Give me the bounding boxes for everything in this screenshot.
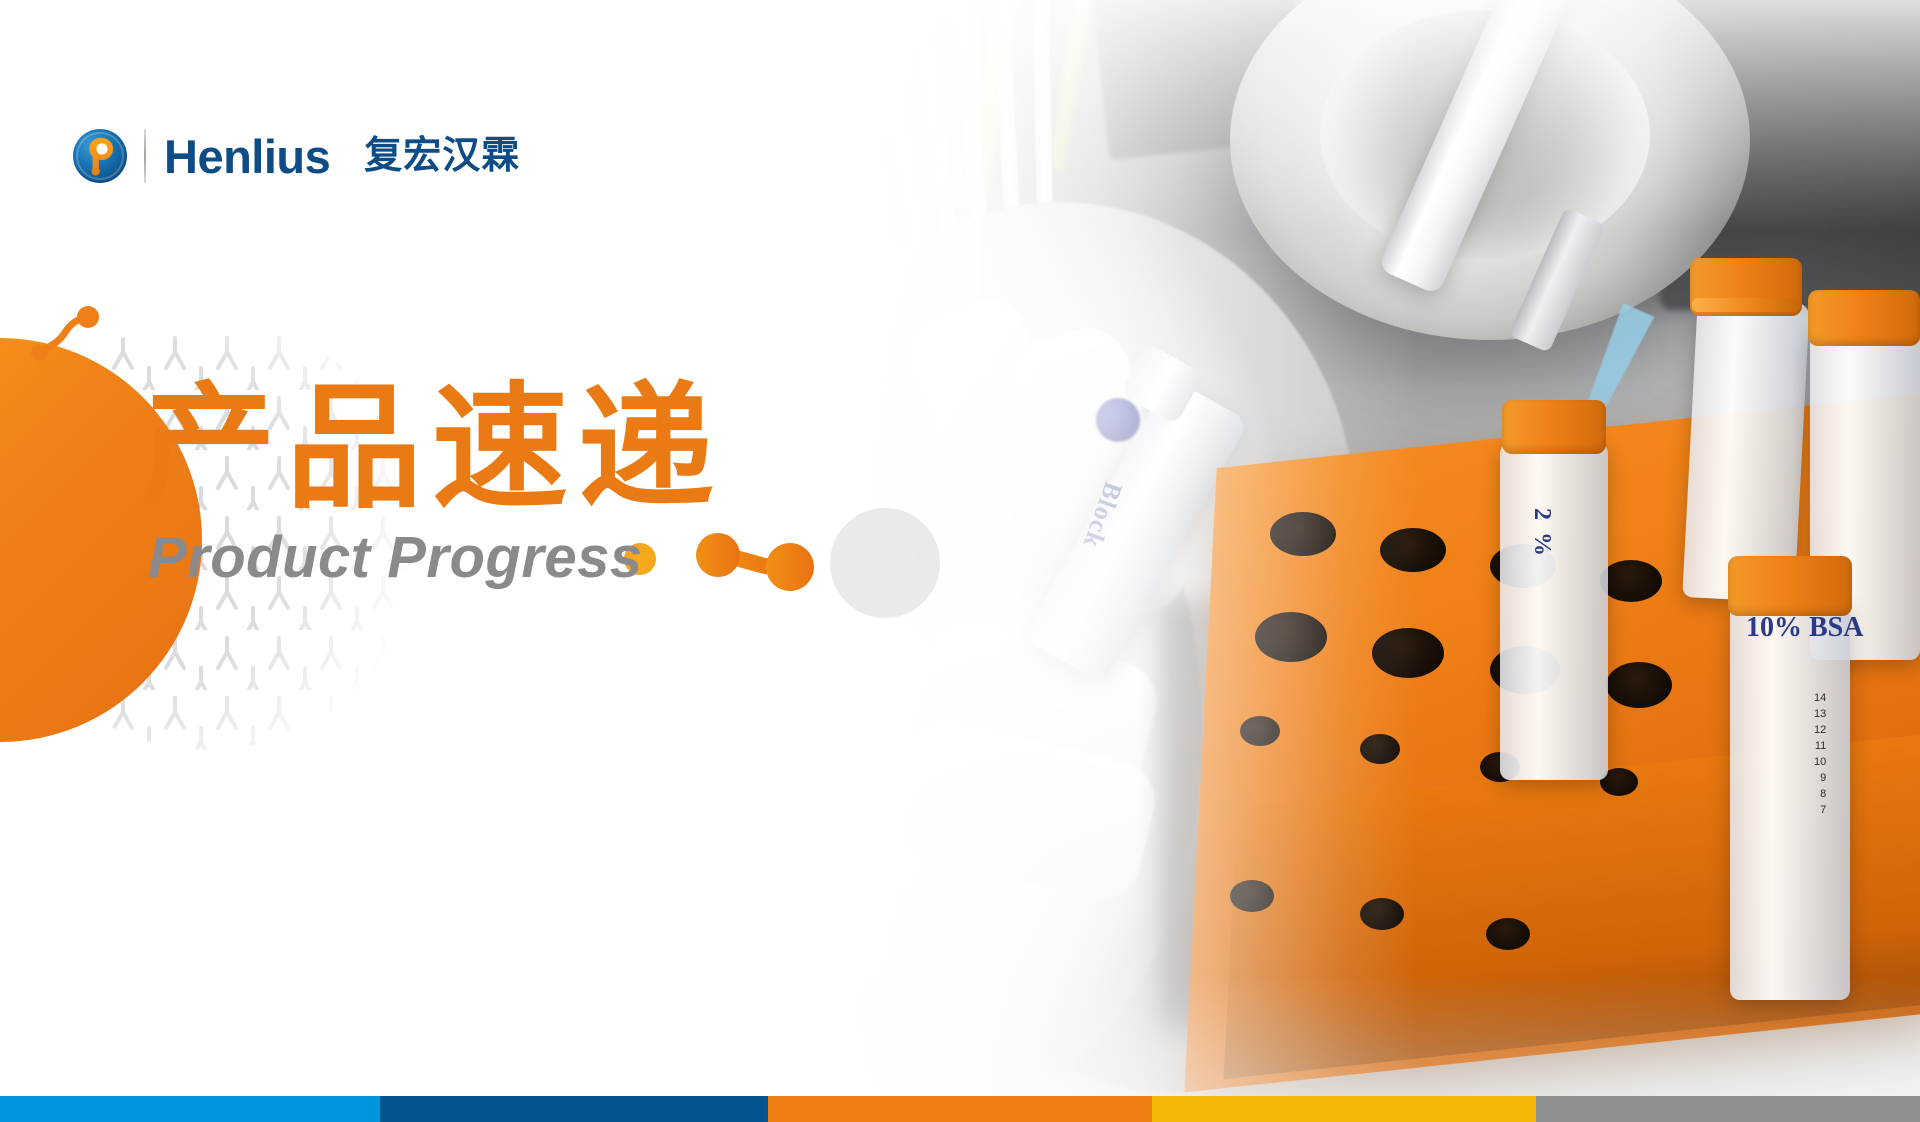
test-tube-1 — [1500, 440, 1608, 780]
photo-top-fade — [800, 0, 1920, 230]
segment-grey — [1536, 1096, 1920, 1122]
logo-divider — [144, 129, 146, 183]
brand-name-cn: 复宏汉霖 — [364, 137, 520, 175]
test-tube-3-cap — [1808, 290, 1920, 346]
segment-light-blue — [0, 1096, 380, 1122]
test-tube-4-scale: 1413121110987 — [1814, 690, 1826, 818]
test-tube-4-label: 10% BSA — [1746, 612, 1863, 644]
segment-gold — [1152, 1096, 1536, 1122]
dumbbell-decoration-top — [30, 306, 100, 369]
test-tube-1-label: 2 % — [1528, 508, 1555, 559]
ghost-circle-decoration — [830, 508, 940, 618]
segment-dark-blue — [380, 1096, 768, 1122]
test-tube-4 — [1730, 600, 1850, 1000]
dumbbell-decoration-middle — [692, 530, 822, 597]
slide-title-cn: 产品速递 — [140, 377, 724, 520]
segment-orange — [768, 1096, 1152, 1122]
brand-name-en: Henlius — [164, 133, 330, 180]
bottom-color-bar — [0, 1096, 1920, 1122]
brand-logo[interactable]: Henlius 复宏汉霖 — [72, 120, 520, 192]
slide-canvas: Block 2 % 10% BSA 1413121110987 — [0, 0, 1920, 1122]
test-tube-1-cap — [1502, 400, 1606, 454]
henlius-monogram-icon — [72, 128, 128, 184]
test-tube-2-cap-ring — [1692, 298, 1800, 312]
test-tube-4-cap — [1728, 556, 1852, 616]
laboratory-photo: Block 2 % 10% BSA 1413121110987 — [800, 0, 1920, 1096]
slide-subtitle-en: Product Progress — [148, 524, 643, 591]
